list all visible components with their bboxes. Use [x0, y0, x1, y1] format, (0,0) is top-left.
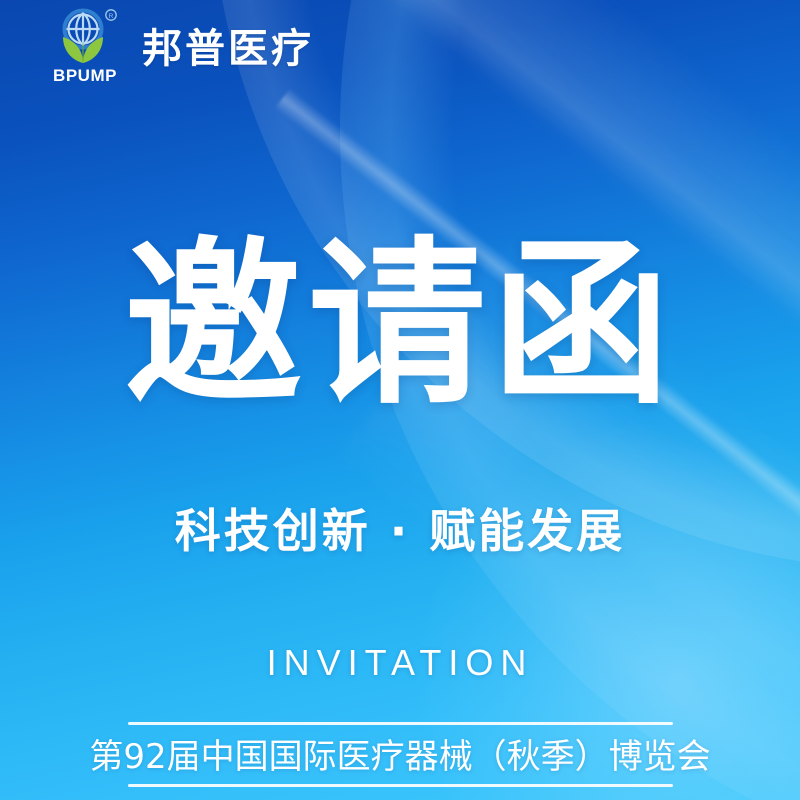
invitation-poster: R BPUMP 邦普医疗 邀请函 科技创新 · 赋能发展 INVITATION … — [0, 0, 800, 800]
svg-text:R: R — [109, 13, 114, 20]
event-name: 第92届中国国际医疗器械（秋季）博览会 — [0, 736, 800, 779]
divider-bottom — [128, 784, 673, 787]
page-title: 邀请函 — [0, 236, 800, 414]
bpump-globe-leaf-logo-icon: R — [49, 8, 121, 66]
background-diagonal-streak-3 — [274, 88, 800, 800]
brand-lockup: R BPUMP 邦普医疗 — [46, 8, 314, 88]
invitation-english-label: INVITATION — [0, 645, 800, 681]
subtitle-slogan: 科技创新 · 赋能发展 — [0, 508, 800, 554]
company-logo: R BPUMP — [46, 8, 124, 88]
logo-wordmark: BPUMP — [53, 67, 117, 84]
company-name: 邦普医疗 — [142, 29, 314, 69]
divider-top — [128, 722, 673, 725]
